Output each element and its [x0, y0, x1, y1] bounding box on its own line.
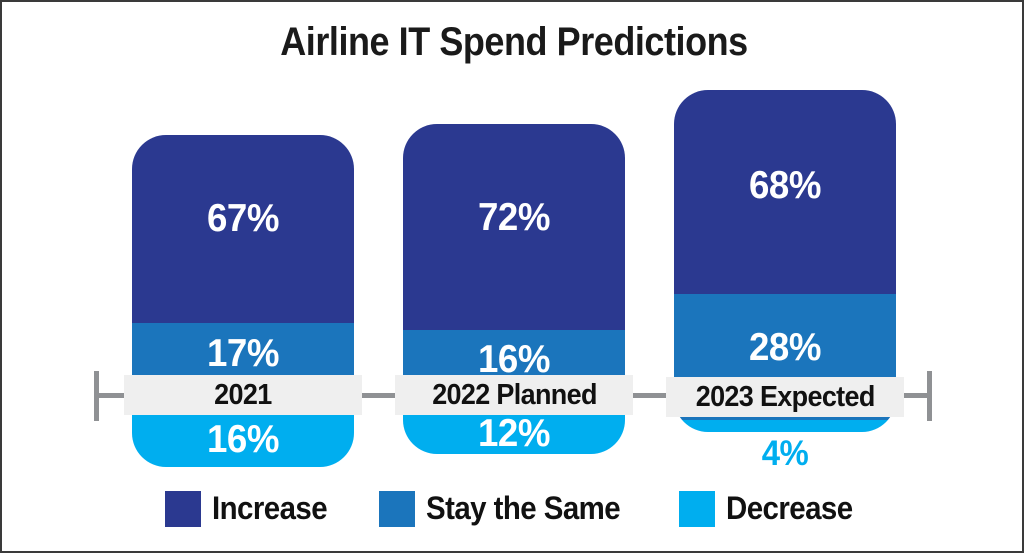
- chart-title: Airline IT Spend Predictions: [53, 20, 975, 65]
- axis-tick-right: [927, 371, 932, 421]
- legend-label-decrease: Decrease: [726, 490, 853, 527]
- legend-item-decrease[interactable]: Decrease: [679, 490, 864, 527]
- legend: Increase Stay the Same Decrease: [2, 490, 1024, 527]
- category-label-2023-expected: 2023 Expected: [696, 381, 875, 414]
- bar-segment-increase[interactable]: 68%: [674, 90, 896, 294]
- bar-segment-value-increase: 72%: [410, 196, 619, 240]
- bar-segment-value-decrease-outside: 4%: [681, 434, 890, 474]
- bar-segment-value-decrease: 12%: [410, 412, 619, 454]
- legend-swatch-decrease-icon: [679, 491, 715, 527]
- category-band-2021: 2021: [124, 375, 362, 415]
- legend-label-increase: Increase: [212, 490, 327, 527]
- bar-segment-value-increase: 67%: [139, 197, 348, 241]
- legend-item-stay-the-same[interactable]: Stay the Same: [379, 490, 637, 527]
- bar-segment-increase[interactable]: 67%: [132, 135, 354, 323]
- category-label-2022-planned: 2022 Planned: [432, 379, 597, 412]
- bar-segment-increase[interactable]: 72%: [403, 124, 625, 330]
- axis-tick-left: [94, 371, 99, 421]
- category-label-2021: 2021: [214, 379, 271, 412]
- bar-2021[interactable]: 67% 17% 16%: [132, 135, 354, 467]
- bar-segment-decrease[interactable]: [674, 420, 896, 432]
- category-band-2023-expected: 2023 Expected: [666, 377, 904, 417]
- category-band-2022-planned: 2022 Planned: [395, 375, 633, 415]
- legend-swatch-stay-the-same-icon: [379, 491, 415, 527]
- bar-segment-value-decrease: 16%: [139, 418, 348, 462]
- chart-container: Airline IT Spend Predictions 67% 17% 16%…: [0, 0, 1024, 553]
- legend-label-stay-the-same: Stay the Same: [426, 490, 620, 527]
- bar-segment-value-stay-the-same: 28%: [681, 326, 890, 370]
- bar-segment-value-increase: 68%: [681, 164, 890, 208]
- bar-segment-value-stay-the-same: 17%: [139, 332, 348, 376]
- legend-swatch-increase-icon: [165, 491, 201, 527]
- legend-item-increase[interactable]: Increase: [165, 490, 337, 527]
